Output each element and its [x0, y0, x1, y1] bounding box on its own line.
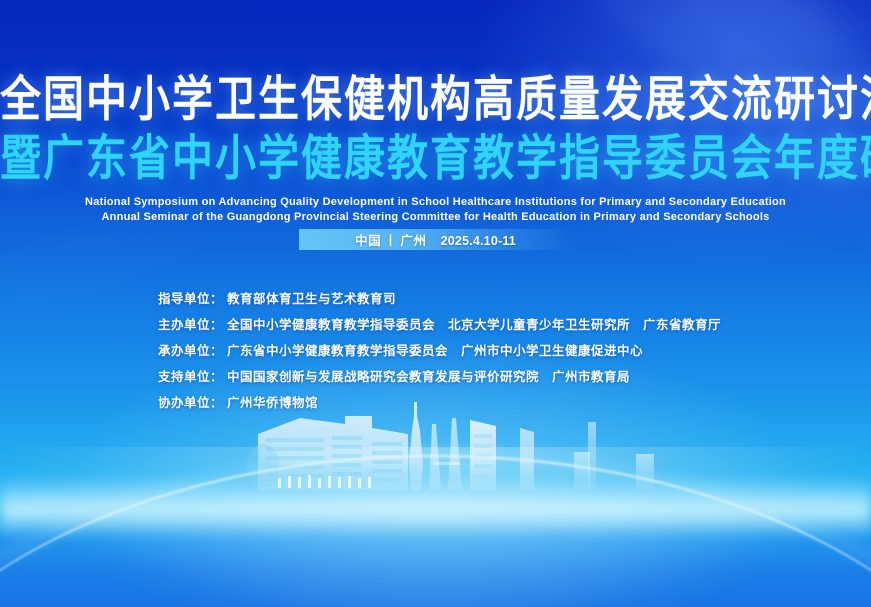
org-label: 支持单位：	[158, 366, 223, 385]
title-english: National Symposium on Advancing Quality …	[0, 195, 871, 225]
org-label: 协办单位：	[158, 392, 223, 411]
org-row-support: 支持单位： 中国国家创新与发展战略研究会教育发展与评价研究院 广州市教育局	[158, 366, 721, 392]
organization-list: 指导单位： 教育部体育卫生与艺术教育司 主办单位： 全国中小学健康教育教学指导委…	[158, 288, 721, 418]
org-label: 承办单位：	[158, 340, 223, 359]
org-value: 中国国家创新与发展战略研究会教育发展与评价研究院 广州市教育局	[227, 366, 630, 385]
badge-text: 中国丨广州2025.4.10-11	[355, 230, 516, 249]
org-row-guidance: 指导单位： 教育部体育卫生与艺术教育司	[158, 288, 721, 314]
org-label: 指导单位：	[158, 288, 223, 307]
org-value: 广州华侨博物馆	[227, 392, 318, 411]
title-english-line1: National Symposium on Advancing Quality …	[0, 195, 871, 210]
badge-date: 2025.4.10-11	[427, 234, 516, 248]
title-chinese-line1: 全国中小学卫生保健机构高质量发展交流研讨活动	[0, 72, 871, 126]
org-value: 广东省中小学健康教育教学指导委员会 广州市中小学卫生健康促进中心	[227, 340, 643, 359]
org-row-host: 主办单位： 全国中小学健康教育教学指导委员会 北京大学儿童青少年卫生研究所 广东…	[158, 314, 721, 340]
org-label: 主办单位：	[158, 314, 223, 333]
badge-container: 中国丨广州2025.4.10-11	[0, 229, 871, 250]
badge-country: 中国	[355, 234, 381, 248]
location-date-badge: 中国丨广州2025.4.10-11	[299, 229, 573, 250]
org-row-coorganizer: 协办单位： 广州华侨博物馆	[158, 392, 721, 418]
title-chinese-line2: 暨广东省中小学健康教育教学指导委员会年度研讨活动	[0, 131, 871, 185]
org-value: 全国中小学健康教育教学指导委员会 北京大学儿童青少年卫生研究所 广东省教育厅	[227, 314, 721, 333]
headline-block: 全国中小学卫生保健机构高质量发展交流研讨活动 暨广东省中小学健康教育教学指导委员…	[0, 72, 871, 225]
light-arc	[0, 455, 871, 607]
org-row-organizer: 承办单位： 广东省中小学健康教育教学指导委员会 广州市中小学卫生健康促进中心	[158, 340, 721, 366]
badge-separator: 丨	[381, 234, 400, 248]
conference-poster: 全国中小学卫生保健机构高质量发展交流研讨活动 暨广东省中小学健康教育教学指导委员…	[0, 0, 871, 607]
badge-city: 广州	[400, 234, 426, 248]
title-english-line2: Annual Seminar of the Guangdong Provinci…	[0, 210, 871, 225]
org-value: 教育部体育卫生与艺术教育司	[227, 288, 396, 307]
